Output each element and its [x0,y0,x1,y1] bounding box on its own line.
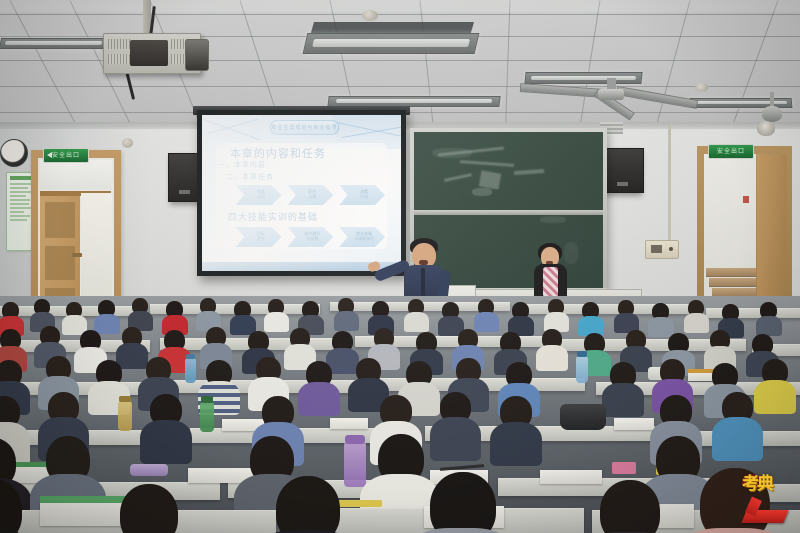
ceiling-projector [103,33,201,74]
ceiling-light-fixture [303,33,480,54]
ceiling-fan-hub [598,89,624,100]
water-bottle [118,401,132,431]
exit-sign-right: 安全出口 [708,144,754,159]
open-textbook [40,502,126,526]
bottle-cap [577,351,587,357]
water-bottle [185,358,196,383]
sticky-note [612,462,636,474]
wall-clock-icon [0,139,28,167]
wall-marker [743,196,749,203]
slide-chevron-label: 就业准备 与求职技巧 [350,232,374,241]
audience-area [0,296,800,533]
wall-control-panel[interactable] [645,240,679,259]
smoke-detector-icon [695,83,708,92]
classroom-photo: 安全出口 安全出口 [0,0,800,533]
ceiling-light-fixture [0,38,108,49]
watermark-logo: 考典 [740,475,792,527]
smoke-detector-icon [122,138,133,148]
bottle-cap [186,354,195,359]
projected-slide: 职业生涯规划与就业指导 本章的内容和任务 一、本章内容 二、本章任务 自我 认知… [202,115,401,271]
security-camera-icon [757,121,775,136]
ceiling-light-fixture [524,72,642,84]
exit-sign-left: 安全出口 [43,148,89,163]
ceiling-fan-hub [762,106,782,122]
notebook [614,418,654,430]
water-bottle [344,442,366,487]
wall-conduit [668,125,671,243]
pencil-case [130,464,168,476]
notebook [330,418,368,429]
watermark-text: 考典 [742,475,772,492]
slide-chevron-label: 决策 行动 [356,190,368,199]
water-bottle [576,356,588,383]
smoke-detector-icon [362,10,378,21]
projection-screen: 职业生涯规划与就业指导 本章的内容和任务 一、本章内容 二、本章任务 自我 认知… [197,110,406,276]
backpack [560,404,606,430]
door-handle[interactable] [72,253,82,257]
open-notebook [540,470,602,484]
wall-speaker-right [604,148,644,193]
ceiling-fan-blade [616,86,698,109]
exit-sign-text: 安全出口 [717,149,745,155]
exit-sign-text: 安全出口 [52,153,80,159]
water-bottle [200,402,214,432]
